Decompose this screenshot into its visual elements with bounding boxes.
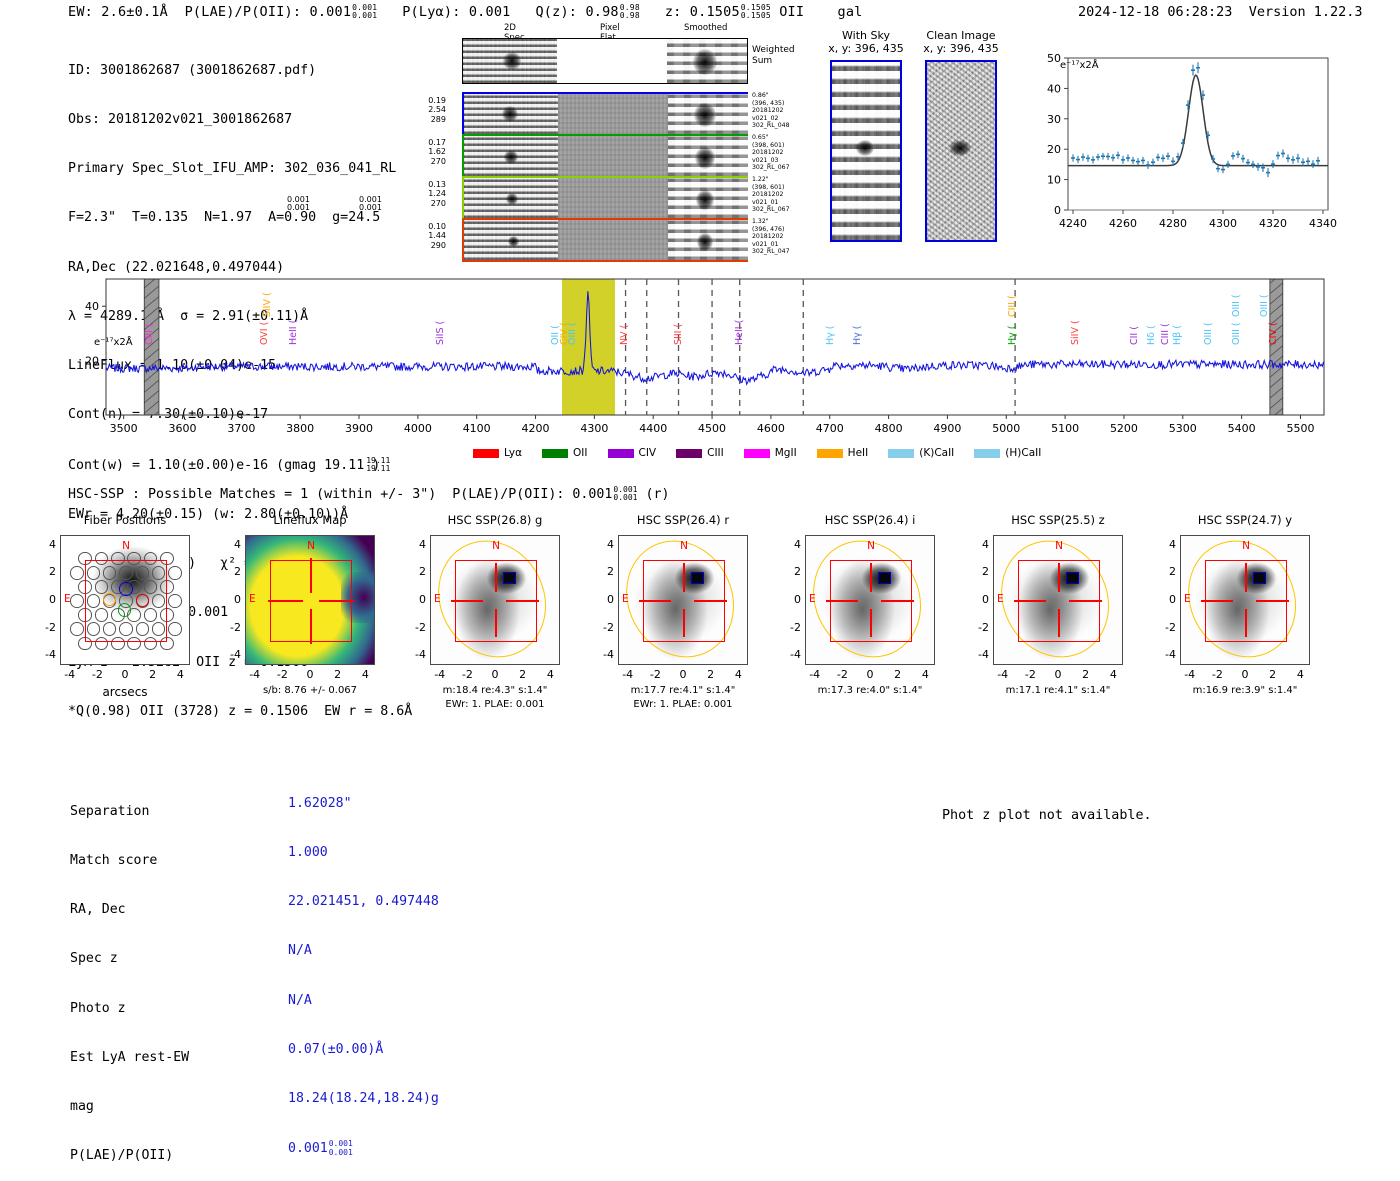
- bottom-plae-range: 0.0010.001: [329, 1140, 353, 1156]
- svg-text:50: 50: [1047, 52, 1061, 65]
- cutout-ytick: 0: [596, 593, 614, 606]
- legend-item: (H)CaII: [974, 447, 1041, 459]
- legend-swatch: [744, 449, 770, 458]
- north-label: N: [867, 540, 875, 552]
- photz-message: Phot z plot not available.: [942, 808, 1152, 823]
- svg-text:5000: 5000: [992, 422, 1020, 435]
- with-sky-image[interactable]: [830, 60, 902, 242]
- center-tick-v: [1245, 609, 1247, 638]
- svg-text:4900: 4900: [933, 422, 961, 435]
- cutout-subtext: m:18.4 re:4.3" s:1.4": [404, 685, 586, 696]
- fiber-circle: [168, 622, 182, 636]
- legend-swatch: [888, 449, 914, 458]
- cutout-ytick: 2: [783, 565, 801, 578]
- east-label: E: [1184, 593, 1191, 605]
- cutout-subtext: m:17.1 re:4.1" s:1.4": [967, 685, 1149, 696]
- spec2d-row-side-info: 0.86" (396, 435) 20181202 v021_02 302_RL…: [752, 92, 790, 130]
- spectral-line-label: SiIS (: [435, 299, 446, 345]
- svg-text:4320: 4320: [1259, 217, 1287, 230]
- cutout-xtick: -4: [995, 668, 1011, 681]
- cutout-ytick: 0: [38, 593, 56, 606]
- legend-label: CIII: [707, 447, 724, 459]
- east-label: E: [249, 593, 256, 605]
- cutout-ytick: -4: [408, 648, 426, 661]
- spectral-line-label: CIV (: [1268, 299, 1279, 345]
- with-sky-title: With Sky x, y: 396, 435: [818, 29, 914, 55]
- cutout-ytick: -4: [1158, 648, 1176, 661]
- cutout-xtick: 2: [703, 668, 719, 681]
- cutout-title: HSC SSP(24.7) y: [1158, 513, 1332, 527]
- cutout-xtick: -2: [89, 668, 105, 681]
- label-ra-dec: RA, Dec: [70, 902, 189, 918]
- legend-item: Lyα: [473, 447, 522, 459]
- cutout-ytick: 4: [38, 538, 56, 551]
- cutout-ytick: 2: [223, 565, 241, 578]
- spec2d-fiber-row[interactable]: [462, 92, 748, 136]
- spectral-line-label: SIII (: [673, 299, 684, 345]
- cutout-ytick: 4: [408, 538, 426, 551]
- legend-item: (K)CaII: [888, 447, 954, 459]
- cutout-subtext-2: EWr: 1. PLAE: 0.001: [592, 699, 774, 710]
- svg-text:4800: 4800: [875, 422, 903, 435]
- center-tick-h: [1256, 600, 1289, 602]
- svg-text:5400: 5400: [1228, 422, 1256, 435]
- spec2d-row-metrics: 0.17 1.62 270: [418, 138, 446, 166]
- info-line-obs: Obs: 20181202v021_3001862687: [68, 112, 412, 128]
- cutout-title: HSC SSP(25.5) z: [971, 513, 1145, 527]
- spec2d-fiber-row[interactable]: [462, 218, 748, 262]
- clean-image[interactable]: [925, 60, 997, 242]
- cutout-xtick: 2: [890, 668, 906, 681]
- svg-text:4500: 4500: [698, 422, 726, 435]
- linefit-units-annotation: e⁻¹⁷x2Å: [1060, 60, 1099, 71]
- cutout-xtick: 4: [357, 668, 373, 681]
- cutout-xtick: -2: [1022, 668, 1038, 681]
- fiber-circle: [70, 566, 84, 580]
- cutout-title: HSC SSP(26.4) i: [783, 513, 957, 527]
- spectral-line-label: OVI (: [259, 299, 270, 345]
- north-label: N: [307, 540, 315, 552]
- center-tick-h: [451, 600, 484, 602]
- svg-text:4300: 4300: [580, 422, 608, 435]
- center-tick-h: [319, 600, 354, 602]
- cutout-ytick: 4: [783, 538, 801, 551]
- header-qz-range: 0.980.98: [620, 4, 640, 20]
- cutout-ytick: -2: [408, 621, 426, 634]
- center-tick-v: [870, 563, 872, 592]
- cutout-xtick: 2: [515, 668, 531, 681]
- clean-image-title: Clean Image x, y: 396, 435: [913, 29, 1009, 55]
- info-line-seeing: F=2.3" T=0.135 N=1.97 A=0.90 g=24.5: [68, 210, 412, 226]
- spec2d-row-side-info: 1.32" (396, 476) 20181202 v021_01 302_RL…: [752, 218, 790, 256]
- info-line-best-solution: *Q(0.98) OII (3728) z = 0.1506 EW r = 8.…: [68, 704, 412, 720]
- cutout-ytick: -4: [783, 648, 801, 661]
- match-marker[interactable]: [503, 572, 516, 584]
- spectrum-legend: LyαOIICIVCIIIMgIIHeII(K)CaII(H)CaII: [473, 447, 1055, 459]
- fiber-circle: [70, 594, 84, 608]
- spectral-line-label: OIII (: [567, 299, 578, 345]
- cutout-xtick: -4: [247, 668, 263, 681]
- center-tick-v: [1245, 563, 1247, 592]
- cutout-image[interactable]: NE: [1180, 535, 1310, 665]
- svg-text:4700: 4700: [816, 422, 844, 435]
- svg-text:4340: 4340: [1309, 217, 1337, 230]
- cutout-xtick: 0: [487, 668, 503, 681]
- svg-text:40: 40: [1047, 82, 1061, 95]
- cutout-xtick: 2: [330, 668, 346, 681]
- spectral-line-label: SiIV (: [1070, 299, 1081, 345]
- legend-swatch: [542, 449, 568, 458]
- ifu-box: [85, 560, 168, 643]
- value-separation: 1.62028": [288, 796, 439, 812]
- label-photo-z: Photo z: [70, 1001, 189, 1017]
- spec2d-row-side-info: 1.22" (398, 601) 20181202 v021_01 302_RL…: [752, 176, 790, 214]
- cutout-xtick: 0: [862, 668, 878, 681]
- spectral-line-label: NV (: [619, 299, 630, 345]
- value-photo-z: N/A: [288, 993, 439, 1009]
- svg-text:5500: 5500: [1286, 422, 1314, 435]
- cutout-ytick: 2: [1158, 565, 1176, 578]
- cutout-xtick: -4: [432, 668, 448, 681]
- spectral-line-label: OIII (: [1231, 271, 1242, 317]
- value-ra-dec: 22.021451, 0.497448: [288, 894, 439, 910]
- svg-text:5100: 5100: [1051, 422, 1079, 435]
- cutout-ytick: 2: [596, 565, 614, 578]
- svg-text:4100: 4100: [463, 422, 491, 435]
- north-label: N: [1242, 540, 1250, 552]
- cutout-subtext: m:17.3 re:4.0" s:1.4": [779, 685, 961, 696]
- svg-text:3900: 3900: [345, 422, 373, 435]
- center-tick-v: [495, 563, 497, 592]
- cutout-ytick: -4: [223, 648, 241, 661]
- match-marker[interactable]: [878, 572, 891, 584]
- cutout-ytick: -2: [783, 621, 801, 634]
- cutout-title: Lineflux Map: [223, 513, 397, 527]
- match-marker[interactable]: [1253, 572, 1266, 584]
- legend-label: (H)CaII: [1005, 447, 1041, 459]
- cutout-subtext: m:16.9 re:3.9" s:1.4": [1154, 685, 1336, 696]
- center-tick-h: [1201, 600, 1234, 602]
- legend-label: Lyα: [504, 447, 522, 459]
- svg-text:4600: 4600: [757, 422, 785, 435]
- svg-text:4000: 4000: [404, 422, 432, 435]
- svg-text:4300: 4300: [1209, 217, 1237, 230]
- cutout-xtick: 4: [542, 668, 558, 681]
- center-tick-v: [310, 609, 312, 644]
- label-plae-poii: P(LAE)/P(OII): [70, 1148, 189, 1164]
- cutout-image[interactable]: NE: [618, 535, 748, 665]
- center-tick-v: [870, 609, 872, 638]
- svg-text:3800: 3800: [286, 422, 314, 435]
- svg-text:4260: 4260: [1109, 217, 1137, 230]
- svg-text:20: 20: [1047, 143, 1061, 156]
- spec2d-weighted-sum-row: [462, 38, 748, 84]
- header-summary: EW: 2.6±0.1Å P(LAE)/P(OII): 0.0010.0010.…: [68, 4, 863, 20]
- cutout-xtick: 4: [730, 668, 746, 681]
- center-tick-h: [506, 600, 539, 602]
- center-tick-h: [826, 600, 859, 602]
- center-tick-h: [1069, 600, 1102, 602]
- spec2d-col-header-smoothed: Smoothed: [684, 23, 727, 33]
- legend-swatch: [473, 449, 499, 458]
- weighted-sum-smoothed: [667, 39, 747, 83]
- cutout-image[interactable]: NE: [805, 535, 935, 665]
- cutout-xtick: 0: [675, 668, 691, 681]
- legend-label: OII: [573, 447, 587, 459]
- svg-text:20: 20: [85, 355, 99, 368]
- cutout-xtick: 2: [1078, 668, 1094, 681]
- legend-swatch: [608, 449, 634, 458]
- emission-line-fit-plot[interactable]: 01020304050424042604280430043204340 e⁻¹⁷…: [1038, 50, 1338, 260]
- cutout-image[interactable]: NE: [993, 535, 1123, 665]
- cutout-ytick: 2: [38, 565, 56, 578]
- legend-item: MgII: [744, 447, 797, 459]
- cutout-title: HSC SSP(26.4) r: [596, 513, 770, 527]
- header-timestamp-version: 2024-12-18 06:28:23 Version 1.22.3: [1078, 4, 1363, 20]
- svg-text:4240: 4240: [1059, 217, 1087, 230]
- cutout-xtick: 2: [1265, 668, 1281, 681]
- north-label: N: [680, 540, 688, 552]
- legend-item: HeII: [817, 447, 869, 459]
- cutout-ytick: 2: [971, 565, 989, 578]
- cutout-ytick: -4: [38, 648, 56, 661]
- weighted-sum-pixelflat: [557, 39, 667, 83]
- legend-label: HeII: [848, 447, 869, 459]
- info-line-id: ID: 3001862687 (3001862687.pdf): [68, 63, 412, 79]
- match-table-labels: Separation Match score RA, Dec Spec z Ph…: [70, 771, 189, 1181]
- east-label: E: [997, 593, 1004, 605]
- spectral-line-label: Hδ (: [1146, 299, 1157, 345]
- spectral-line-label: HeII (: [734, 299, 745, 345]
- label-separation: Separation: [70, 804, 189, 820]
- cutout-title: HSC SSP(26.8) g: [408, 513, 582, 527]
- center-tick-v: [1058, 609, 1060, 638]
- label-spec-z: Spec z: [70, 951, 189, 967]
- spec2d-fiber-row[interactable]: [462, 176, 748, 220]
- legend-label: MgII: [775, 447, 797, 459]
- east-label: E: [434, 593, 441, 605]
- header-ew: EW: 2.6±0.1Å: [68, 4, 168, 20]
- spec2d-row-metrics: 0.10 1.44 290: [418, 222, 446, 250]
- cutout-ytick: -4: [971, 648, 989, 661]
- svg-text:3700: 3700: [227, 422, 255, 435]
- cutout-xtick: 0: [302, 668, 318, 681]
- weighted-sum-2dspec: [463, 39, 557, 83]
- cutout-ytick: 4: [596, 538, 614, 551]
- header-plae-label: P(LAE)/P(OII): 0.001: [185, 4, 352, 20]
- cutout-subtext: s/b: 8.76 +/- 0.067: [219, 685, 401, 696]
- legend-item: CIII: [676, 447, 724, 459]
- cutout-title: Fiber Positions: [38, 513, 212, 527]
- center-tick-h: [639, 600, 672, 602]
- spectral-line-label: Hγ (: [852, 299, 863, 345]
- match-marker[interactable]: [691, 572, 704, 584]
- spectral-line-label: CIII (: [144, 299, 155, 345]
- header-plya: P(Lyα): 0.001: [402, 4, 510, 20]
- cutout-xtick: 4: [1105, 668, 1121, 681]
- legend-label: CIV: [639, 447, 657, 459]
- cutout-xtick: 2: [145, 668, 161, 681]
- spec2d-row-side-info: 0.65" (398, 601) 20181202 v021_03 302_RL…: [752, 134, 790, 172]
- value-mag: 18.24(18.24,18.24)g: [288, 1091, 439, 1107]
- cutout-xtick: -2: [459, 668, 475, 681]
- match-marker[interactable]: [1066, 572, 1079, 584]
- svg-text:4200: 4200: [522, 422, 550, 435]
- cutout-xtick: -2: [834, 668, 850, 681]
- header-objtype: gal: [838, 4, 863, 20]
- fiber-circle: [168, 594, 182, 608]
- north-label: N: [122, 540, 130, 552]
- cutout-image[interactable]: NE: [60, 535, 190, 665]
- cutout-xtick: 4: [1292, 668, 1308, 681]
- info-line-cont-w: Cont(w) = 1.10(±0.00)e-16 (gmag 19.11 )1…: [68, 457, 412, 475]
- header-plae-range: 0.0010.001: [352, 4, 377, 20]
- cutout-ytick: 4: [223, 538, 241, 551]
- cutout-xlabel: arcsecs: [60, 685, 190, 699]
- value-match-score: 1.000: [288, 845, 439, 861]
- hsc-ssp-header: HSC-SSP : Possible Matches = 1 (within +…: [68, 486, 670, 502]
- cutout-xtick: 0: [1050, 668, 1066, 681]
- legend-item: CIV: [608, 447, 657, 459]
- label-mag: mag: [70, 1099, 189, 1115]
- center-tick-h: [881, 600, 914, 602]
- north-label: N: [1055, 540, 1063, 552]
- cutout-xtick: -4: [1182, 668, 1198, 681]
- spec2d-row-metrics: 0.19 2.54 289: [418, 96, 446, 124]
- center-tick-h: [1014, 600, 1047, 602]
- spectral-line-label: OIII (: [1203, 299, 1214, 345]
- spectral-line-label: CII (: [1129, 299, 1140, 345]
- cutout-ytick: 0: [1158, 593, 1176, 606]
- north-label: N: [492, 540, 500, 552]
- svg-text:3500: 3500: [110, 422, 138, 435]
- svg-text:3600: 3600: [168, 422, 196, 435]
- center-tick-h: [694, 600, 727, 602]
- value-spec-z: N/A: [288, 943, 439, 959]
- cutout-xtick: -2: [1209, 668, 1225, 681]
- spec2d-fiber-row[interactable]: [462, 134, 748, 178]
- cutout-xtick: -4: [62, 668, 78, 681]
- spectrum-units-annotation: e⁻¹⁷x2Å: [94, 337, 133, 348]
- cutout-ytick: 2: [408, 565, 426, 578]
- svg-text:10: 10: [1047, 174, 1061, 187]
- svg-text:0: 0: [1054, 204, 1061, 217]
- label-est-lya-rest-ew: Est LyA rest-EW: [70, 1050, 189, 1066]
- cutout-ytick: -2: [596, 621, 614, 634]
- center-tick-v: [683, 563, 685, 592]
- match-table-values: 1.62028" 1.000 22.021451, 0.497448 N/A N…: [288, 763, 439, 1174]
- svg-text:40: 40: [85, 300, 99, 313]
- cutout-ytick: 4: [971, 538, 989, 551]
- header-z: z: 0.1505: [665, 4, 740, 20]
- version: Version 1.22.3: [1249, 4, 1363, 20]
- east-label: E: [622, 593, 629, 605]
- cutout-ytick: -2: [38, 621, 56, 634]
- cutout-ytick: -2: [1158, 621, 1176, 634]
- cutout-xtick: 0: [117, 668, 133, 681]
- value-plae-poii: 0.0010.0010.001: [288, 1140, 439, 1158]
- fiber-circle: [70, 622, 84, 636]
- east-label: E: [64, 593, 71, 605]
- info-line-radec: RA,Dec (22.021648,0.497044): [68, 260, 412, 276]
- cutout-xtick: -2: [647, 668, 663, 681]
- gmag-range: 19.1119.11: [366, 457, 390, 473]
- center-tick-v: [1058, 563, 1060, 592]
- cutout-ytick: -2: [971, 621, 989, 634]
- cutout-xtick: -4: [620, 668, 636, 681]
- cutout-xtick: 4: [172, 668, 188, 681]
- center-tick-v: [683, 609, 685, 638]
- cutout-xtick: 4: [917, 668, 933, 681]
- timestamp: 2024-12-18 06:28:23: [1078, 4, 1232, 20]
- info-plae-w-range: 0.0010.001: [359, 196, 382, 212]
- hsc-plae-range: 0.0010.001: [613, 486, 637, 502]
- header-qz: Q(z): 0.98: [535, 4, 618, 20]
- cutout-ytick: 0: [783, 593, 801, 606]
- info-plae-range: 0.0010.001: [287, 196, 310, 212]
- cutout-xtick: -2: [274, 668, 290, 681]
- header-z-range: 0.15050.1505: [741, 4, 771, 20]
- cutout-image[interactable]: NE: [245, 535, 375, 665]
- fiber-circle: [168, 566, 182, 580]
- spectral-line-label: HeII (: [288, 299, 299, 345]
- spectral-line-label: Hγ (: [825, 299, 836, 345]
- cutout-ytick: -4: [596, 648, 614, 661]
- svg-text:4280: 4280: [1159, 217, 1187, 230]
- svg-text:5300: 5300: [1169, 422, 1197, 435]
- cutout-ytick: 0: [408, 593, 426, 606]
- header-classification: OII: [779, 4, 804, 20]
- east-label: E: [809, 593, 816, 605]
- legend-swatch: [676, 449, 702, 458]
- spectral-line-label: Hβ (: [1172, 299, 1183, 345]
- cutout-ytick: 0: [223, 593, 241, 606]
- center-tick-v: [495, 609, 497, 638]
- legend-item: OII: [542, 447, 587, 459]
- center-tick-h: [268, 600, 303, 602]
- cutout-xtick: 0: [1237, 668, 1253, 681]
- cutout-image[interactable]: NE: [430, 535, 560, 665]
- spectral-line-label: Hγ (: [1007, 299, 1018, 345]
- spectral-line-label: CIII (: [1160, 299, 1171, 345]
- legend-label: (K)CaII: [919, 447, 954, 459]
- cutout-ytick: 0: [971, 593, 989, 606]
- value-est-lya-rest-ew: 0.07(±0.00)Å: [288, 1042, 439, 1058]
- center-tick-v: [310, 558, 312, 593]
- label-match-score: Match score: [70, 853, 189, 869]
- svg-text:30: 30: [1047, 113, 1061, 126]
- weighted-sum-label: Weighted Sum: [752, 45, 795, 67]
- legend-swatch: [974, 449, 1000, 458]
- svg-text:4400: 4400: [639, 422, 667, 435]
- spec2d-row-metrics: 0.13 1.24 270: [418, 180, 446, 208]
- cutout-subtext-2: EWr: 1. PLAE: 0.001: [404, 699, 586, 710]
- cutout-subtext: m:17.7 re:4.1" s:1.4": [592, 685, 774, 696]
- line-fit-svg: 01020304050424042604280430043204340: [1038, 50, 1338, 260]
- info-line-primary-spec: Primary Spec_Slot_IFU_AMP: 302_036_041_R…: [68, 161, 412, 177]
- svg-text:5200: 5200: [1110, 422, 1138, 435]
- legend-swatch: [817, 449, 843, 458]
- cutout-xtick: -4: [807, 668, 823, 681]
- cutout-ytick: -2: [223, 621, 241, 634]
- cutout-ytick: 4: [1158, 538, 1176, 551]
